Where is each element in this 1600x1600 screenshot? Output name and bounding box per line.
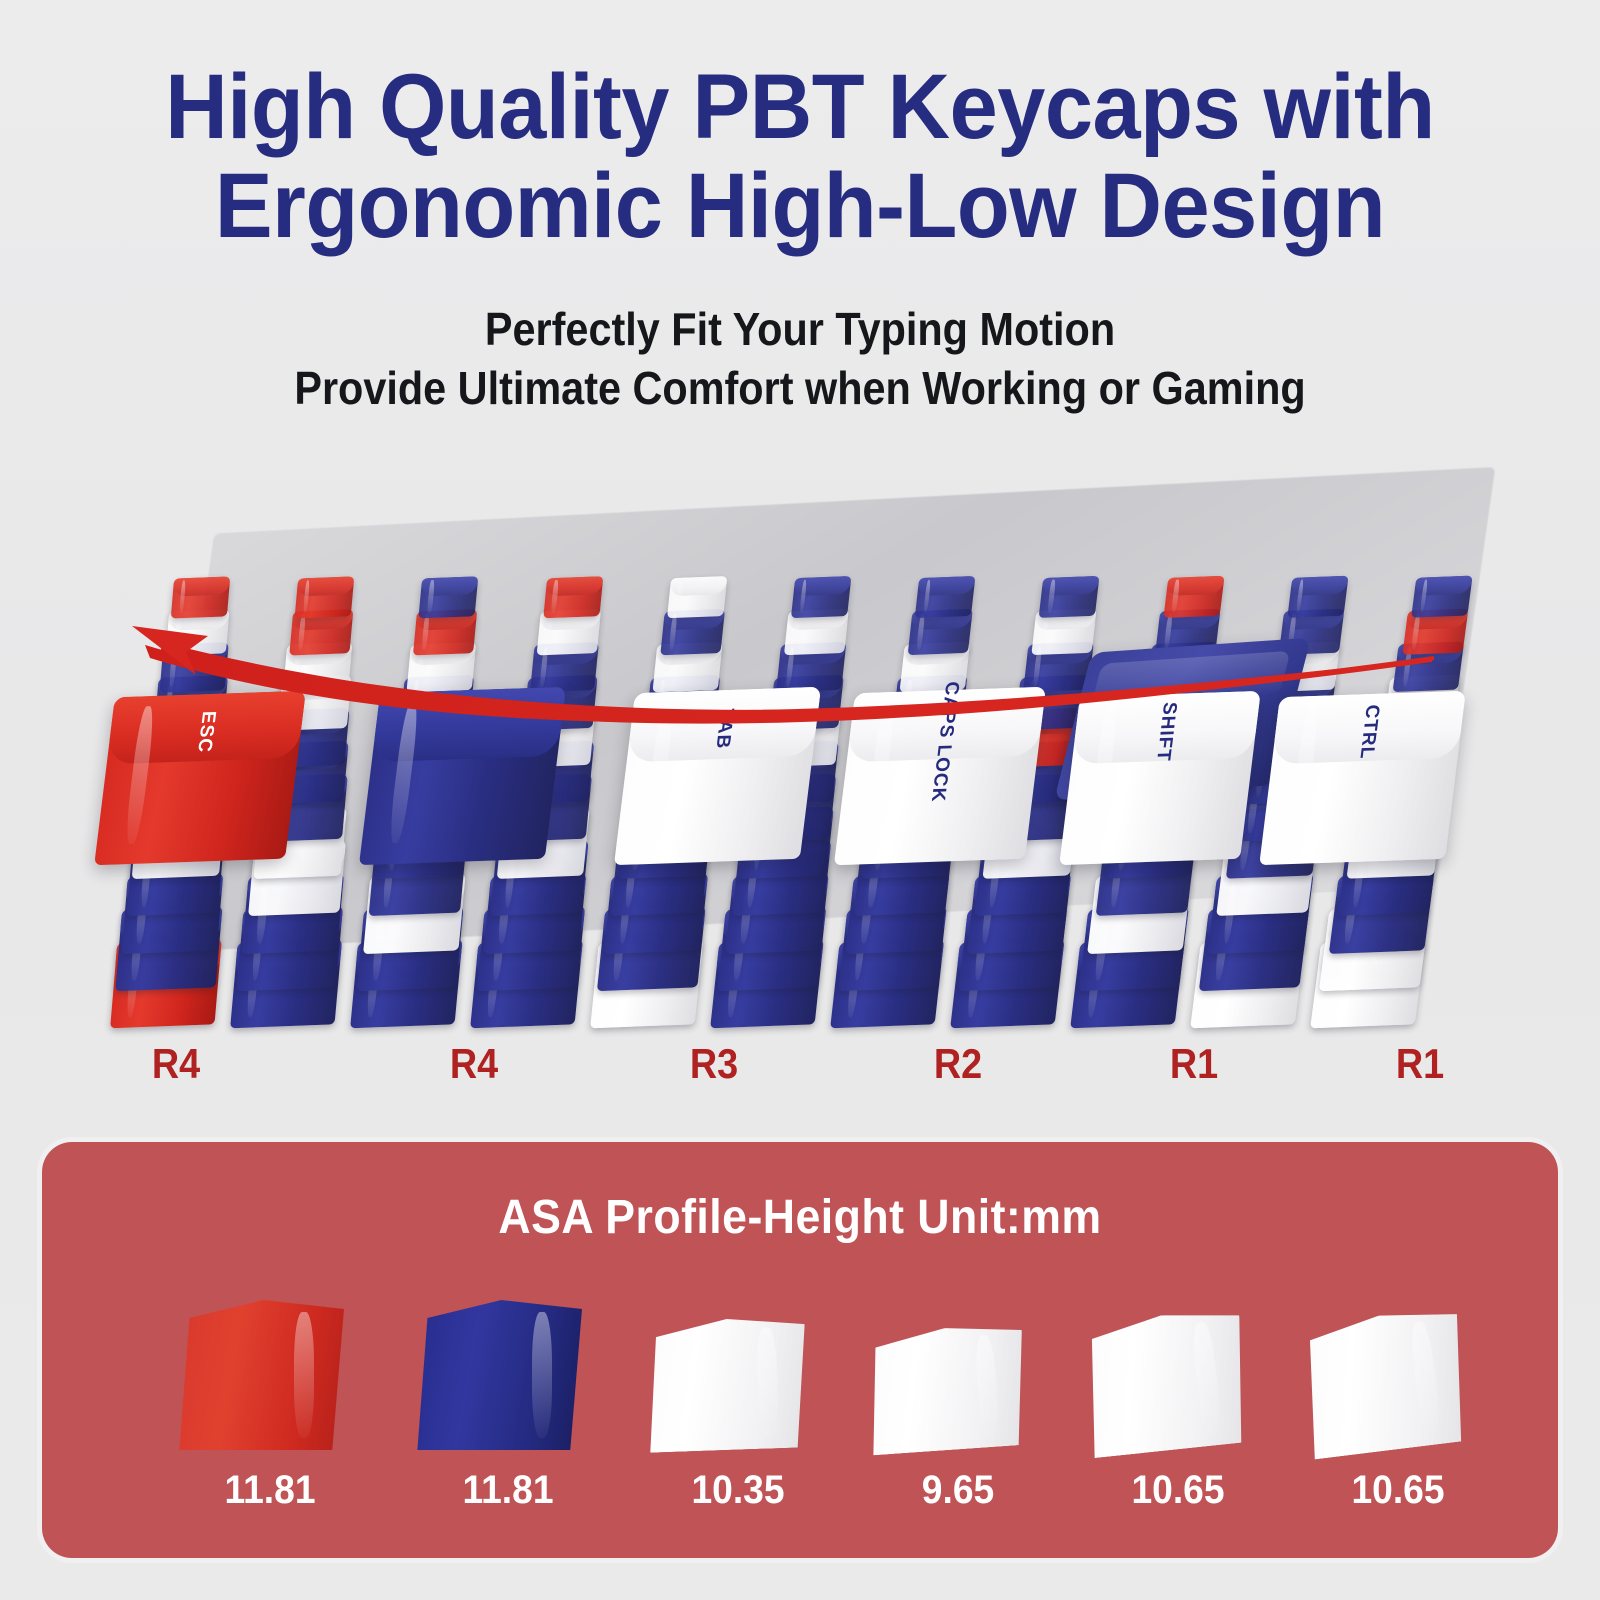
profile-height-value: 10.65 xyxy=(1351,1468,1444,1513)
row-label-5: R1 xyxy=(1396,1040,1444,1088)
profile-body xyxy=(1077,1307,1252,1458)
subtitle-line-2: Provide Ultimate Comfort when Working or… xyxy=(80,359,1520,418)
profile-body xyxy=(862,1323,1030,1456)
profile-keycap-r4-1 xyxy=(414,1300,582,1450)
profile-height-value: 9.65 xyxy=(922,1468,994,1513)
row-label-strip: R4 R4 R3 R2 R1 R1 xyxy=(0,1040,1600,1100)
profile-keycap-r3-2 xyxy=(642,1316,808,1453)
profile-height-panel: ASA Profile-Height Unit:mm 11.8111.8110.… xyxy=(42,1142,1558,1558)
row-label-1: R4 xyxy=(450,1040,498,1088)
panel-title: ASA Profile-Height Unit:mm xyxy=(95,1190,1505,1245)
product-infographic: High Quality PBT Keycaps with Ergonomic … xyxy=(0,0,1600,1600)
profile-height-value: 10.65 xyxy=(1131,1468,1224,1513)
title-line-1: High Quality PBT Keycaps with xyxy=(48,58,1552,157)
row-label-3: R2 xyxy=(934,1040,982,1088)
title-line-2: Ergonomic High-Low Design xyxy=(48,157,1552,256)
profile-keycap-r4-0 xyxy=(176,1300,344,1450)
profile-highlight xyxy=(532,1312,552,1438)
profile-keycap-r1-4 xyxy=(1077,1307,1252,1458)
profile-body xyxy=(414,1300,582,1450)
subtitle-line-1: Perfectly Fit Your Typing Motion xyxy=(80,300,1520,359)
profile-height-value: 10.35 xyxy=(691,1468,784,1513)
row-label-2: R3 xyxy=(690,1040,738,1088)
profile-keycap-r1-5 xyxy=(1295,1306,1472,1460)
profile-height-value: 11.81 xyxy=(224,1468,315,1513)
profile-body xyxy=(176,1300,344,1450)
arrow-shaft-fill xyxy=(160,642,1434,724)
row-label-0: R4 xyxy=(152,1040,200,1088)
profile-body xyxy=(1295,1306,1472,1460)
page-title: High Quality PBT Keycaps with Ergonomic … xyxy=(48,58,1552,257)
profile-body xyxy=(642,1316,808,1453)
page-subtitle: Perfectly Fit Your Typing Motion Provide… xyxy=(80,300,1520,418)
profile-keycap-r2-3 xyxy=(862,1323,1030,1456)
profile-height-values: 11.8111.8110.359.6510.6510.65 xyxy=(42,1468,1558,1528)
profile-height-value: 11.81 xyxy=(462,1468,553,1513)
ergonomic-curve-arrow xyxy=(0,430,1600,1050)
row-label-4: R1 xyxy=(1170,1040,1218,1088)
profile-silhouettes xyxy=(42,1270,1558,1450)
profile-highlight xyxy=(294,1312,314,1438)
